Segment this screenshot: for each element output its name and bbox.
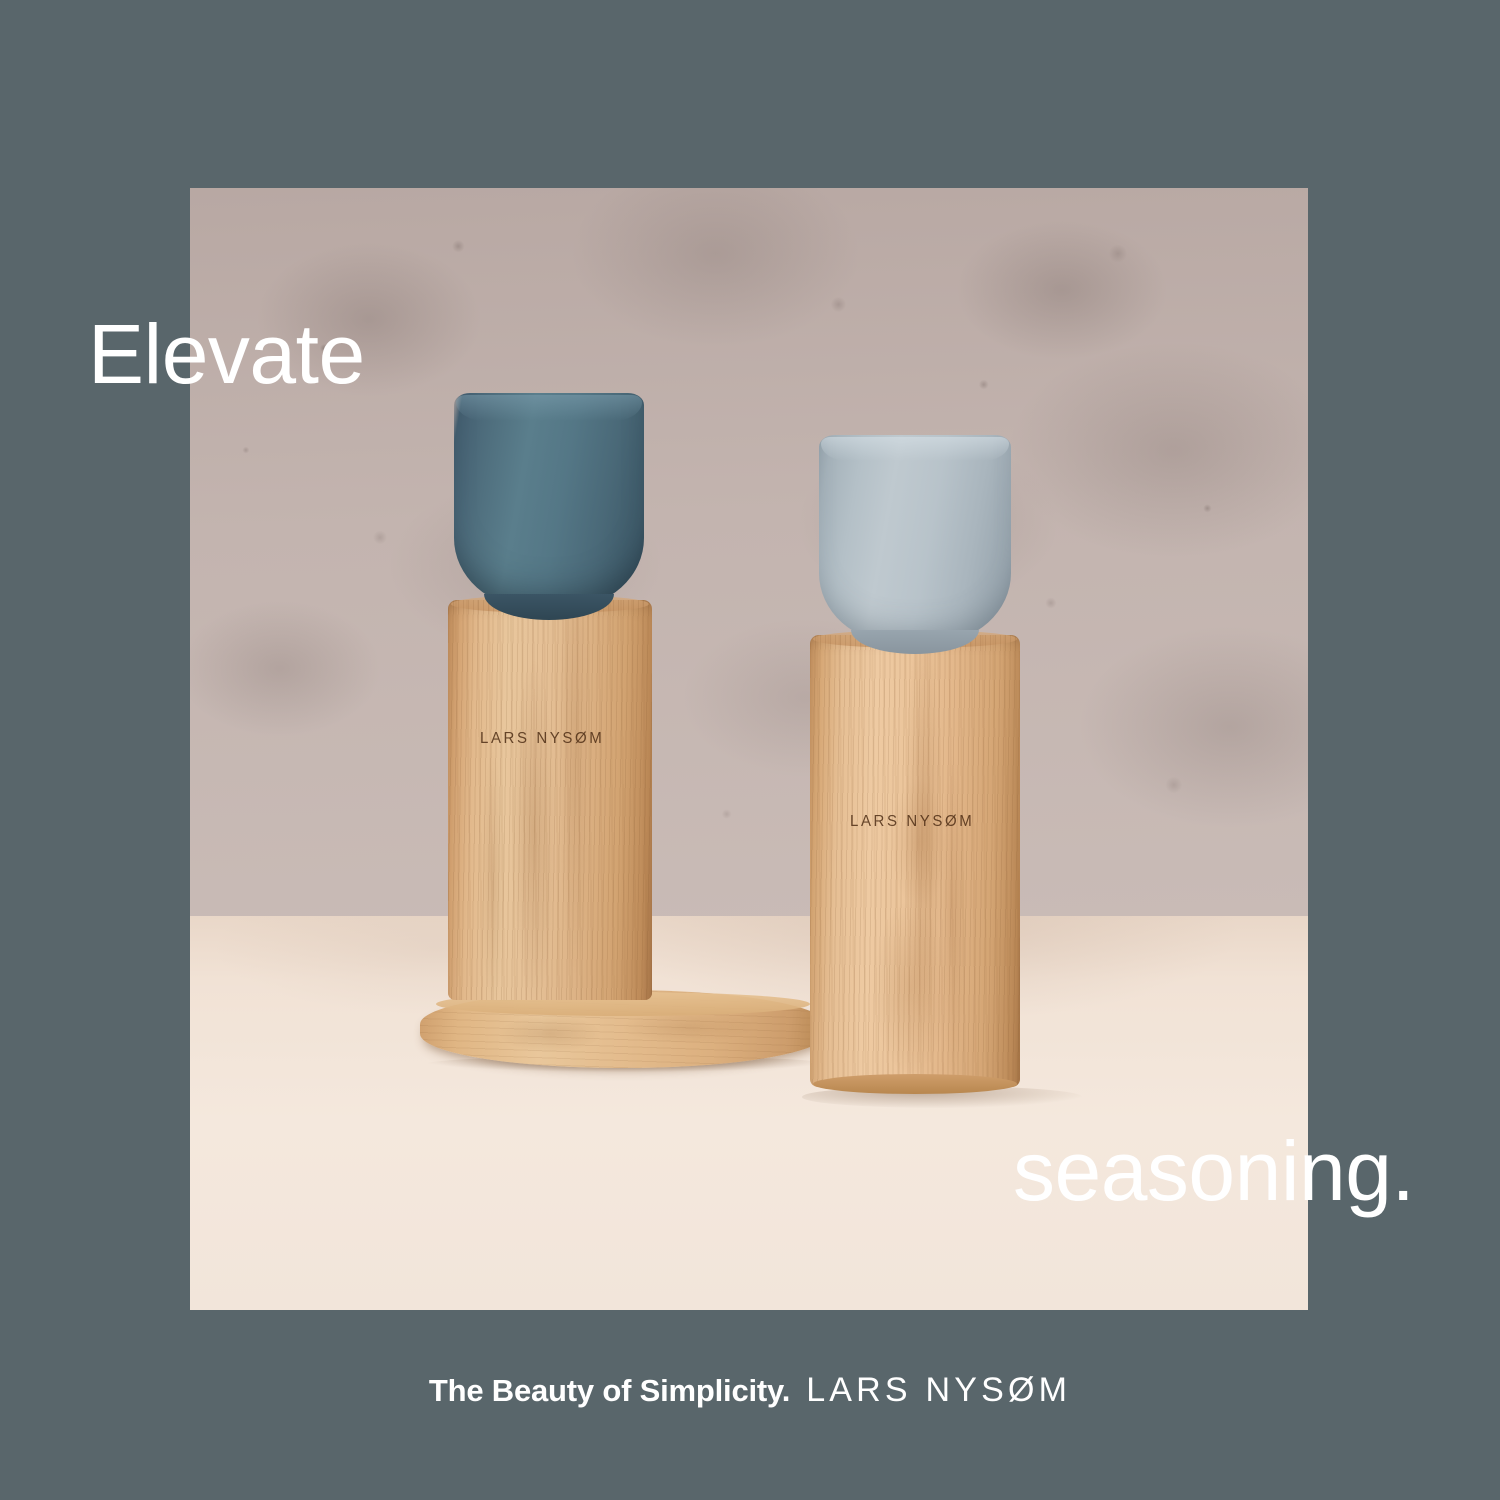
- brand-wordmark: LARS NYSØM: [806, 1371, 1071, 1409]
- left-mill-grain-streaks: [448, 600, 652, 1000]
- headline-line-1: Elevate: [88, 312, 365, 396]
- right-mill-grain-streaks: [810, 635, 1020, 1087]
- right-mill-bottom-edge: [813, 1074, 1017, 1094]
- wall-texture: [190, 188, 1308, 916]
- left-mill-wood-body: [448, 600, 652, 1000]
- left-mill: LARS NYSØM: [448, 393, 652, 1013]
- right-mill-wood-body: [810, 635, 1020, 1087]
- footer-bar: The Beauty of Simplicity.LARS NYSØM: [0, 1371, 1500, 1410]
- background-wall: [190, 188, 1308, 916]
- headline-line-2: seasoning.: [1013, 1129, 1414, 1213]
- table-surface: [190, 916, 1308, 1310]
- right-mill: LARS NYSØM: [810, 435, 1020, 1095]
- left-cap-rim-highlight: [456, 395, 642, 421]
- left-mill-ceramic-cap: [454, 393, 644, 608]
- right-mill-ceramic-cap: [819, 435, 1011, 643]
- right-cap-rim-highlight: [821, 437, 1009, 461]
- ad-canvas: LARS NYSØM LARS NYSØM Elevate seasoning.…: [0, 0, 1500, 1500]
- left-mill-engraving: LARS NYSØM: [480, 730, 604, 748]
- right-mill-engraving: LARS NYSØM: [850, 813, 974, 831]
- brand-tagline: The Beauty of Simplicity.: [429, 1373, 790, 1408]
